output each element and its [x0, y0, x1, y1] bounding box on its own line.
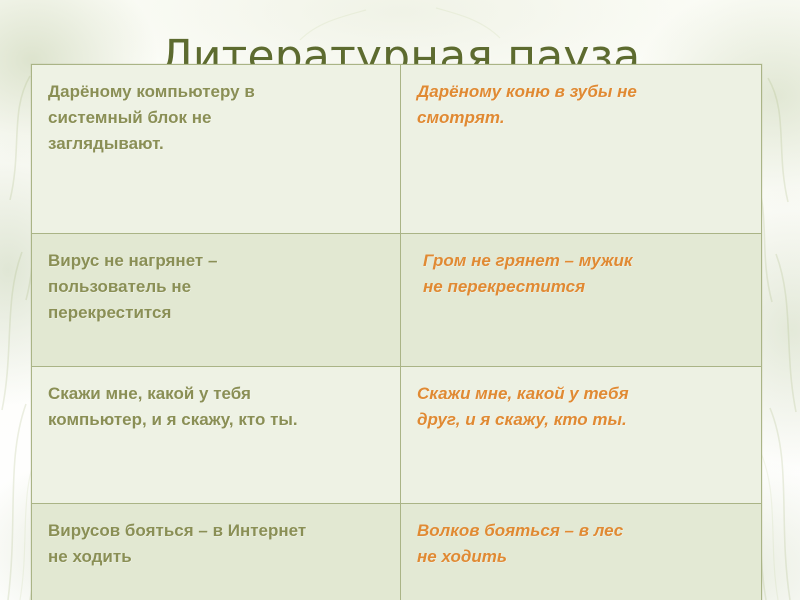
proverb-line: Скажи мне, какой у тебя — [417, 381, 745, 407]
cell-original-proverb: Скажи мне, какой у тебя друг, и я скажу,… — [401, 367, 762, 504]
table-row: Вирус не нагрянет – пользователь не пере… — [32, 234, 762, 367]
cell-computer-proverb: Вирусов бояться – в Интернет не ходить — [32, 504, 401, 600]
proverb-line: Дарёному коню в зубы не — [417, 79, 745, 105]
cell-computer-proverb: Вирус не нагрянет – пользователь не пере… — [32, 234, 401, 367]
table-row: Дарёному компьютеру в системный блок не … — [32, 65, 762, 234]
proverb-line: не перекрестится — [417, 274, 745, 300]
proverb-line: системный блок не — [48, 105, 384, 131]
proverbs-table: Дарёному компьютеру в системный блок не … — [31, 64, 762, 600]
proverb-line: заглядывают. — [48, 131, 384, 157]
cell-original-proverb: Гром не грянет – мужик не перекрестится — [401, 234, 762, 367]
proverb-line: Вирус не нагрянет – — [48, 248, 384, 274]
proverb-line: пользователь не — [48, 274, 384, 300]
proverb-line: Дарёному компьютеру в — [48, 79, 384, 105]
proverb-line: компьютер, и я скажу, кто ты. — [48, 407, 384, 433]
proverb-line: Скажи мне, какой у тебя — [48, 381, 384, 407]
proverb-line: Вирусов бояться – в Интернет — [48, 518, 384, 544]
proverb-line: перекрестится — [48, 300, 384, 326]
proverb-line: Гром не грянет – мужик — [417, 248, 745, 274]
cell-original-proverb: Дарёному коню в зубы не смотрят. — [401, 65, 762, 234]
proverb-line: не ходить — [417, 544, 745, 570]
table-row: Вирусов бояться – в Интернет не ходить В… — [32, 504, 762, 600]
slide-canvas: Литературная пауза Дарёному компьютеру в… — [0, 0, 800, 600]
cell-original-proverb: Волков бояться – в лес не ходить — [401, 504, 762, 600]
cell-computer-proverb: Дарёному компьютеру в системный блок не … — [32, 65, 401, 234]
proverb-line: смотрят. — [417, 105, 745, 131]
table-row: Скажи мне, какой у тебя компьютер, и я с… — [32, 367, 762, 504]
proverb-line: Волков бояться – в лес — [417, 518, 745, 544]
proverb-line: не ходить — [48, 544, 384, 570]
proverb-line: друг, и я скажу, кто ты. — [417, 407, 745, 433]
cell-computer-proverb: Скажи мне, какой у тебя компьютер, и я с… — [32, 367, 401, 504]
